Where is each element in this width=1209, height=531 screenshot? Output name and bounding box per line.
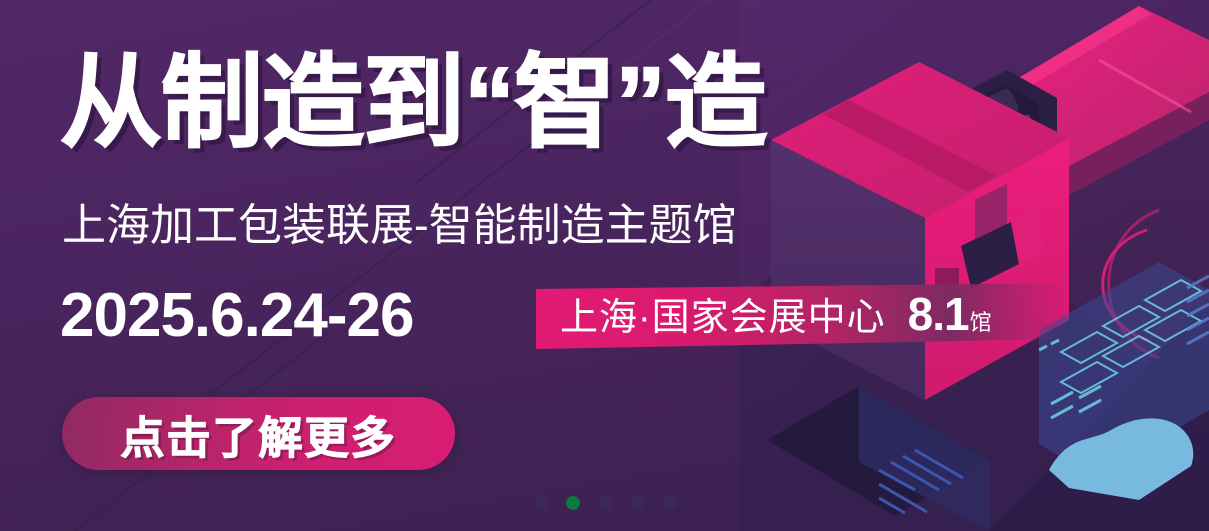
- venue-hall-number: 8.1: [908, 290, 969, 338]
- date-and-venue-row: 2025.6.24-26 上海·国家会展中心 8.1 馆: [0, 281, 860, 353]
- carousel-dot-4[interactable]: [630, 496, 644, 510]
- venue-name: 上海·国家会展中心: [560, 294, 886, 342]
- venue-badge-text: 上海·国家会展中心 8.1 馆: [560, 290, 992, 347]
- carousel-dot-3[interactable]: [598, 496, 612, 510]
- carousel-dot-5[interactable]: [662, 496, 676, 510]
- page-title: 从制造到“智”造: [60, 49, 766, 157]
- learn-more-button[interactable]: 点击了解更多: [62, 397, 455, 470]
- carousel-dot-1[interactable]: [534, 496, 548, 510]
- promo-banner-slide[interactable]: 从制造到“智”造 上海加工包装联展-智能制造主题馆 2025.6.24-26 上…: [0, 0, 1209, 531]
- carousel-dot-2[interactable]: [566, 496, 580, 510]
- event-date: 2025.6.24-26: [60, 281, 413, 351]
- banner-text-content: 从制造到“智”造 上海加工包装联展-智能制造主题馆 2025.6.24-26 上…: [0, 0, 860, 531]
- carousel-pagination[interactable]: [0, 496, 1209, 510]
- venue-badge: 上海·国家会展中心 8.1 馆: [536, 283, 1066, 349]
- venue-hall-unit: 馆: [970, 299, 992, 347]
- banner-subtitle: 上海加工包装联展-智能制造主题馆: [62, 202, 737, 250]
- learn-more-label: 点击了解更多: [121, 402, 397, 466]
